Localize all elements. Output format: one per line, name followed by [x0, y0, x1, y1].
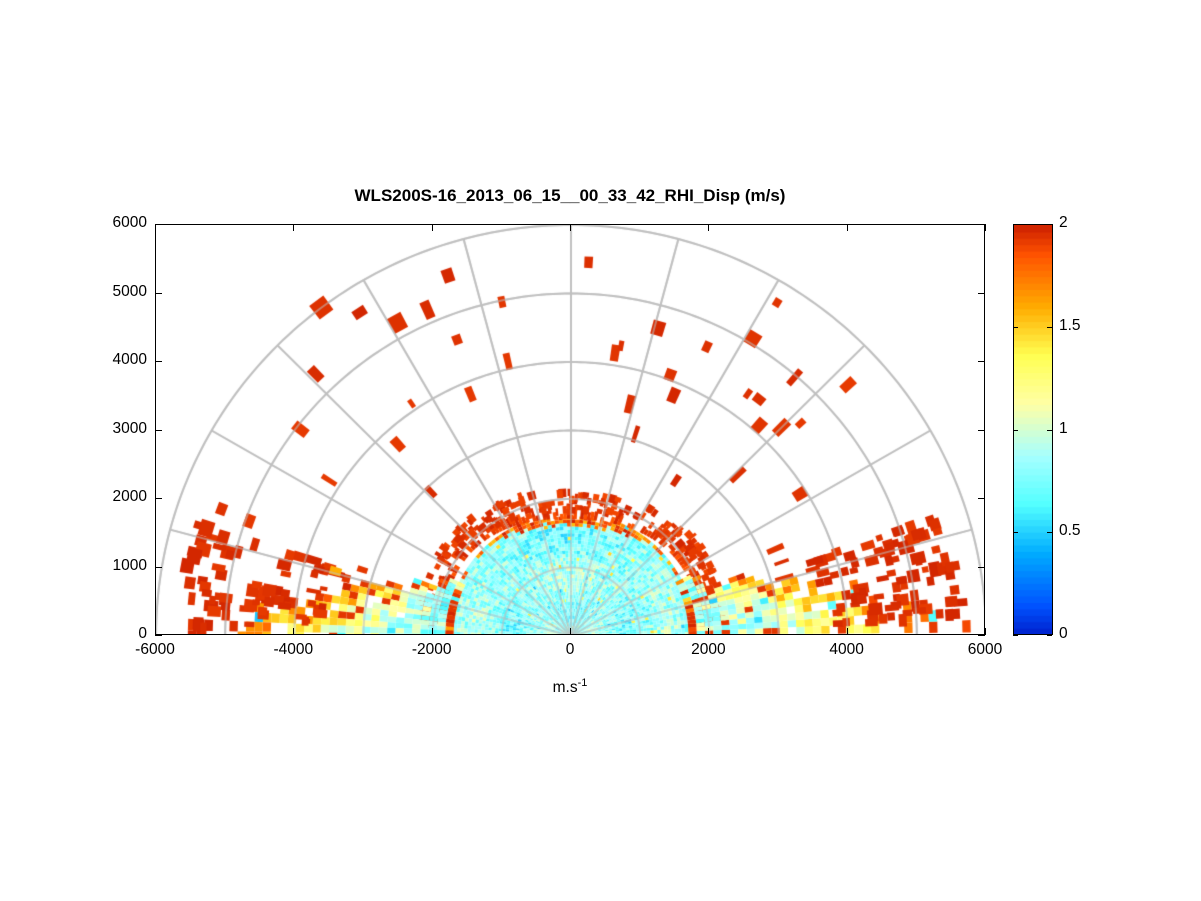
y-axis-tick	[155, 430, 162, 431]
x-axis-label-exponent: -1	[578, 677, 588, 689]
y-axis-tick-label: 1000	[113, 557, 147, 575]
y-axis-tick	[978, 567, 985, 568]
x-axis-tick	[985, 628, 986, 635]
y-axis-tick	[155, 293, 162, 294]
y-axis-tick	[155, 635, 162, 636]
colorbar-tick-label: 0	[1059, 625, 1068, 643]
y-axis-tick	[978, 430, 985, 431]
y-axis-tick	[978, 293, 985, 294]
colorbar-tick	[1047, 224, 1052, 225]
x-axis-tick-label: -2000	[412, 641, 452, 659]
x-axis-tick	[708, 224, 709, 231]
x-axis-tick	[570, 224, 571, 231]
colorbar-tick-label: 1	[1059, 420, 1068, 438]
x-axis-tick	[432, 224, 433, 231]
x-axis-tick	[155, 628, 156, 635]
y-axis-tick	[155, 224, 162, 225]
y-axis-tick	[978, 224, 985, 225]
y-axis-tick	[978, 635, 985, 636]
x-axis-tick	[847, 628, 848, 635]
x-axis-tick	[293, 628, 294, 635]
x-axis-tick-label: 6000	[968, 641, 1002, 659]
x-axis-tick	[293, 224, 294, 231]
x-axis-tick-label: 0	[566, 641, 575, 659]
x-axis-tick	[985, 224, 986, 231]
y-axis-tick-label: 4000	[113, 351, 147, 369]
x-axis-tick	[432, 628, 433, 635]
y-axis-tick-label: 6000	[113, 214, 147, 232]
colorbar-tick	[1013, 532, 1018, 533]
colorbar-tick	[1013, 635, 1018, 636]
y-axis-tick	[155, 498, 162, 499]
colorbar-tick	[1047, 635, 1052, 636]
page-title: WLS200S-16_2013_06_15__00_33_42_RHI_Disp…	[155, 186, 985, 206]
colorbar-tick	[1047, 327, 1052, 328]
x-axis-tick-label: -6000	[135, 641, 175, 659]
colorbar-tick	[1047, 430, 1052, 431]
x-axis-tick-label: 2000	[691, 641, 725, 659]
x-axis-tick	[847, 224, 848, 231]
colorbar-tick-label: 1.5	[1059, 317, 1081, 335]
rhi-polar-plot-canvas	[156, 225, 985, 635]
figure-canvas: WLS200S-16_2013_06_15__00_33_42_RHI_Disp…	[0, 0, 1201, 901]
y-axis-tick	[155, 567, 162, 568]
y-axis-tick	[155, 361, 162, 362]
x-axis-tick	[155, 224, 156, 231]
y-axis-tick-label: 2000	[113, 488, 147, 506]
colorbar-tick	[1047, 532, 1052, 533]
x-axis-tick	[570, 628, 571, 635]
x-axis-tick	[708, 628, 709, 635]
colorbar-tick	[1013, 327, 1018, 328]
colorbar-tick-label: 2	[1059, 214, 1068, 232]
y-axis-tick-label: 3000	[113, 420, 147, 438]
y-axis-tick	[978, 361, 985, 362]
x-axis-label-text: m.s	[553, 679, 578, 696]
colorbar-tick	[1013, 224, 1018, 225]
y-axis-tick-label: 5000	[113, 283, 147, 301]
x-axis-label: m.s-1	[155, 677, 985, 697]
x-axis-tick-label: 4000	[829, 641, 863, 659]
y-axis-tick	[978, 498, 985, 499]
colorbar-tick	[1013, 430, 1018, 431]
colorbar-tick-label: 0.5	[1059, 522, 1081, 540]
plot-axes-area	[155, 224, 985, 635]
x-axis-tick-label: -4000	[274, 641, 314, 659]
